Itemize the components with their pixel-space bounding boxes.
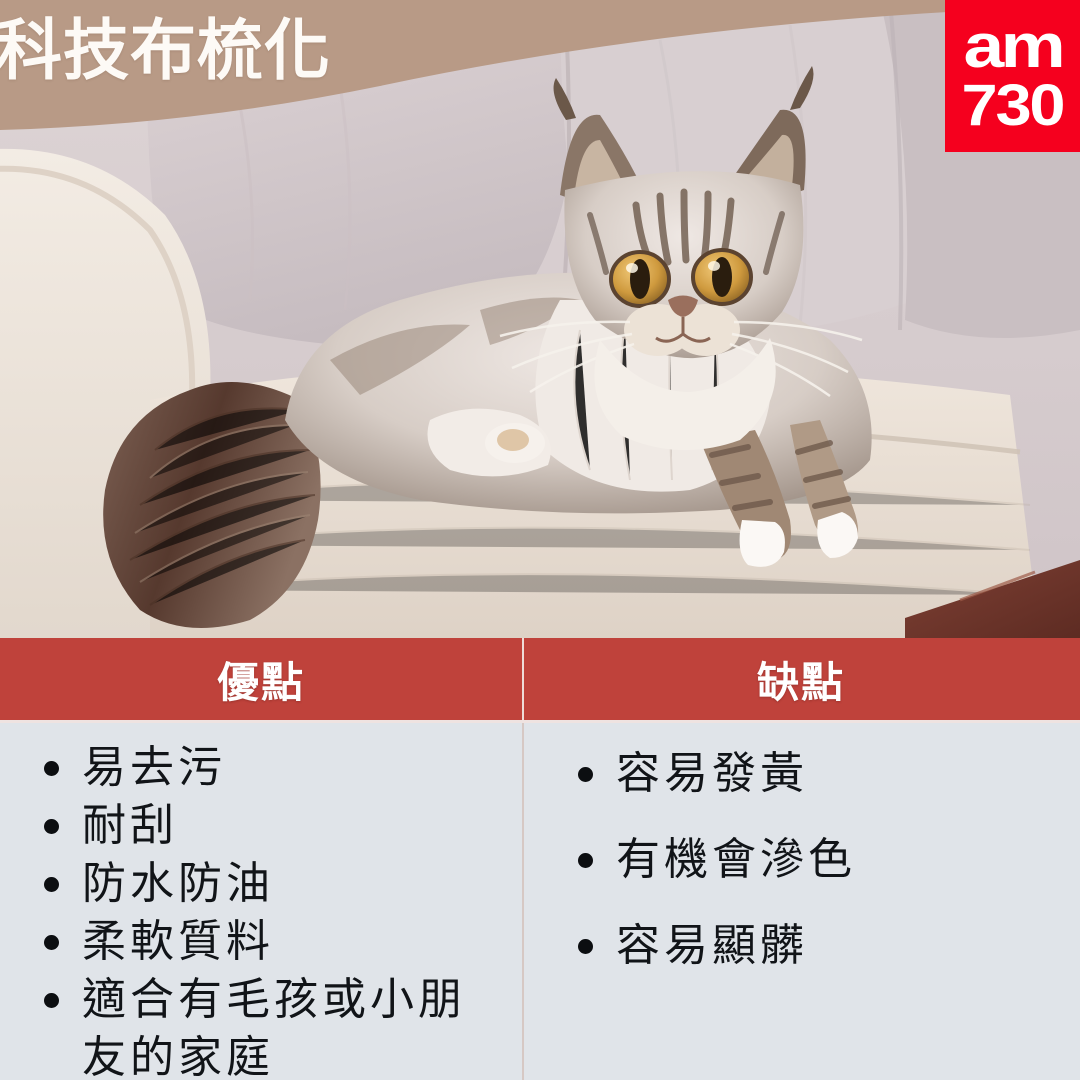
list-item-label: 耐刮 (82, 801, 178, 850)
list-item: 容易顯髒 (574, 917, 1068, 975)
list-item-label: 易去污 (82, 743, 226, 792)
bullet-icon (578, 939, 593, 954)
list-item: 防水防油 (40, 855, 512, 913)
table-header-row: 優點 缺點 (0, 638, 1080, 720)
pros-header-label: 優點 (217, 649, 305, 710)
cons-header-label: 缺點 (757, 649, 845, 710)
pros-header-cell: 優點 (0, 638, 522, 720)
cons-list: 容易發黃 有機會滲色 容易顯髒 (524, 723, 1078, 975)
cons-header-cell: 缺點 (524, 638, 1078, 720)
pros-cons-table: 優點 缺點 易去污 耐刮 (0, 638, 1080, 1080)
logo-am-text: am (963, 18, 1062, 76)
cons-cell: 容易發黃 有機會滲色 容易顯髒 (524, 723, 1078, 1080)
logo-730-text: 730 (962, 78, 1064, 134)
bullet-icon (44, 877, 59, 892)
bullet-icon (44, 993, 59, 1008)
bullet-icon (44, 935, 59, 950)
pros-cell: 易去污 耐刮 防水防油 柔軟質料 (0, 723, 522, 1080)
list-item-label: 柔軟質料 (82, 917, 274, 966)
list-item: 有機會滲色 (574, 831, 1068, 889)
list-item-label: 適合有毛孩或小朋友的家庭 (82, 975, 466, 1080)
bullet-icon (44, 761, 59, 776)
cat-sofa-photo (0, 0, 1080, 640)
page-title: 科技布梳化 (0, 8, 331, 92)
am730-logo[interactable]: am 730 (945, 0, 1080, 152)
infographic-card: 科技布梳化 am 730 優點 缺點 易去污 (0, 0, 1080, 1080)
table-body-row: 易去污 耐刮 防水防油 柔軟質料 (0, 720, 1080, 1080)
list-item: 適合有毛孩或小朋友的家庭 (40, 971, 512, 1080)
list-item-label: 有機會滲色 (616, 835, 856, 884)
list-item: 容易發黃 (574, 745, 1068, 803)
bullet-icon (578, 853, 593, 868)
bullet-icon (44, 819, 59, 834)
pros-list: 易去污 耐刮 防水防油 柔軟質料 (0, 723, 522, 1080)
bullet-icon (578, 767, 593, 782)
list-item: 耐刮 (40, 797, 512, 855)
list-item: 易去污 (40, 739, 512, 797)
list-item-label: 容易顯髒 (616, 921, 808, 970)
list-item: 柔軟質料 (40, 913, 512, 971)
list-item-label: 防水防油 (82, 859, 274, 908)
photo-illustration (0, 0, 1080, 640)
list-item-label: 容易發黃 (616, 749, 808, 798)
